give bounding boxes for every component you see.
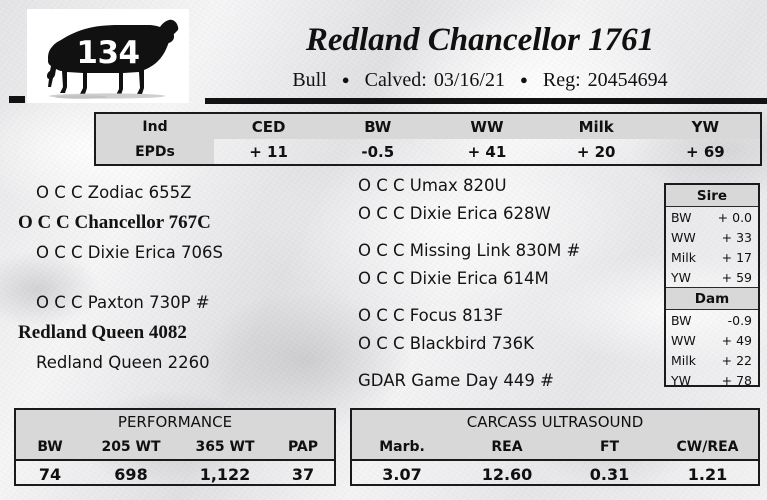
- performance-title: PERFORMANCE: [16, 410, 334, 434]
- dam-row-ww: WW + 49: [666, 330, 758, 350]
- performance-value-bw: 74: [16, 460, 84, 488]
- epd-value-row: EPDs + 11 -0.5 + 41 + 20 + 69: [96, 139, 760, 164]
- bullet-separator-2: ●: [511, 72, 537, 87]
- header-divider-rule: [205, 98, 767, 104]
- lot-number: 134: [27, 35, 189, 71]
- sire-row-ww: WW + 33: [666, 227, 758, 247]
- carcass-value-ft: 0.31: [562, 460, 657, 488]
- epd-col-ced: CED: [214, 114, 323, 139]
- epd-row-label-epds: EPDs: [96, 139, 214, 164]
- carcass-col-cwrea: CW/REA: [657, 434, 758, 460]
- sire-row-bw: BW + 0.0: [666, 207, 758, 228]
- epd-value-bw: -0.5: [323, 139, 432, 164]
- sire-key-milk: Milk: [666, 247, 712, 267]
- dam-key-milk: Milk: [666, 350, 712, 370]
- dam-value-milk: + 22: [712, 350, 758, 370]
- pedigree-mid-item: O C C Blackbird 736K: [358, 330, 658, 358]
- carcass-value-cwrea: 1.21: [657, 460, 758, 488]
- carcass-col-ft: FT: [562, 434, 657, 460]
- pedigree-mid-item: O C C Missing Link 830M #: [358, 237, 658, 265]
- performance-value-205wt: 698: [84, 460, 178, 488]
- pedigree-left-item: O C C Dixie Erica 706S: [18, 238, 338, 268]
- pedigree-mid-spacer: [358, 293, 658, 302]
- pedigree-left-item: O C C Paxton 730P #: [18, 288, 338, 318]
- epd-value-ced: + 11: [214, 139, 323, 164]
- pedigree-left-item: Redland Queen 2260: [18, 348, 338, 378]
- dam-key-bw: BW: [666, 310, 712, 331]
- sire-row-milk: Milk + 17: [666, 247, 758, 267]
- epd-col-yw: YW: [651, 114, 760, 139]
- epd-value-milk: + 20: [542, 139, 651, 164]
- pedigree-mid-spacer: [358, 228, 658, 237]
- calved-label: Calved:: [364, 69, 428, 91]
- reg-number: 20454694: [587, 69, 669, 91]
- performance-title-row: PERFORMANCE: [16, 410, 334, 434]
- epd-value-ww: + 41: [432, 139, 541, 164]
- pedigree-mid-item: GDAR Game Day 449 #: [358, 367, 658, 395]
- pedigree-left-sire: O C C Chancellor 767C: [18, 208, 338, 238]
- sire-value-bw: + 0.0: [712, 207, 758, 228]
- carcass-ultrasound-table: CARCASS ULTRASOUND Marb. REA FT CW/REA 3…: [350, 408, 760, 486]
- dam-value-yw: + 78: [712, 370, 758, 390]
- performance-value-pap: 37: [272, 460, 334, 488]
- sire-key-yw: YW: [666, 267, 712, 288]
- dam-title: Dam: [666, 288, 758, 310]
- animal-name-title: Redland Chancellor 1761: [200, 22, 760, 59]
- carcass-value-rea: 12.60: [452, 460, 562, 488]
- pedigree-mid-spacer: [358, 395, 658, 404]
- dam-row-yw: YW + 78: [666, 370, 758, 390]
- carcass-header-row: Marb. REA FT CW/REA: [352, 434, 758, 460]
- pedigree-left-dam: Redland Queen 4082: [18, 318, 338, 348]
- catalog-page: 134 Redland Chancellor 1761 Bull ● Calve…: [0, 0, 767, 500]
- animal-subtitle: Bull ● Calved: 03/16/21 ● Reg: 20454694: [200, 69, 760, 92]
- epd-col-milk: Milk: [542, 114, 651, 139]
- pedigree-mid-spacer: [358, 358, 658, 367]
- dam-value-bw: -0.9: [712, 310, 758, 331]
- pedigree-column-left: O C C Zodiac 655Z O C C Chancellor 767C …: [18, 178, 338, 378]
- carcass-value-row: 3.07 12.60 0.31 1.21: [352, 460, 758, 488]
- performance-col-pap: PAP: [272, 434, 334, 460]
- epd-col-ww: WW: [432, 114, 541, 139]
- pedigree-left-spacer: [18, 268, 338, 288]
- sire-key-bw: BW: [666, 207, 712, 228]
- performance-col-365wt: 365 WT: [178, 434, 272, 460]
- dam-key-ww: WW: [666, 330, 712, 350]
- bullet-separator-1: ●: [333, 72, 359, 87]
- animal-sex: Bull: [291, 69, 327, 91]
- pedigree-mid-item: O C C Dixie Erica 614M: [358, 265, 658, 293]
- epd-table: Ind CED BW WW Milk YW EPDs + 11 -0.5 + 4…: [94, 112, 762, 166]
- sire-row-yw: YW + 59: [666, 267, 758, 288]
- sire-value-yw: + 59: [712, 267, 758, 288]
- pedigree-mid-item: O C C Dixie Erica 628W: [358, 200, 658, 228]
- performance-col-bw: BW: [16, 434, 84, 460]
- performance-value-row: 74 698 1,122 37: [16, 460, 334, 488]
- epd-header-row: Ind CED BW WW Milk YW: [96, 114, 760, 139]
- dam-row-milk: Milk + 22: [666, 350, 758, 370]
- pedigree-mid-item: O C C Focus 813F: [358, 302, 658, 330]
- carcass-title-row: CARCASS ULTRASOUND: [352, 410, 758, 434]
- sire-key-ww: WW: [666, 227, 712, 247]
- pedigree-column-middle: O C C Umax 820U O C C Dixie Erica 628W O…: [358, 172, 658, 432]
- sire-value-ww: + 33: [712, 227, 758, 247]
- dam-key-yw: YW: [666, 370, 712, 390]
- sire-value-milk: + 17: [712, 247, 758, 267]
- performance-header-row: BW 205 WT 365 WT PAP: [16, 434, 334, 460]
- calved-date: 03/16/21: [433, 69, 506, 91]
- epd-row-label-ind: Ind: [96, 114, 214, 139]
- carcass-title: CARCASS ULTRASOUND: [352, 410, 758, 434]
- pedigree-left-item: O C C Zodiac 655Z: [18, 178, 338, 208]
- lot-logo-box: 134: [27, 9, 189, 103]
- performance-col-205wt: 205 WT: [84, 434, 178, 460]
- dam-value-ww: + 49: [712, 330, 758, 350]
- dam-section-title-row: Dam: [666, 288, 758, 310]
- sire-title: Sire: [666, 185, 758, 207]
- sire-dam-epd-box: Sire BW + 0.0 WW + 33 Milk + 17 YW + 59: [664, 183, 760, 387]
- epd-col-bw: BW: [323, 114, 432, 139]
- carcass-value-marb: 3.07: [352, 460, 452, 488]
- performance-table: PERFORMANCE BW 205 WT 365 WT PAP 74 698 …: [14, 408, 336, 486]
- carcass-col-marb: Marb.: [352, 434, 452, 460]
- performance-value-365wt: 1,122: [178, 460, 272, 488]
- header-accent-square: [9, 96, 25, 103]
- pedigree-mid-item: O C C Umax 820U: [358, 172, 658, 200]
- sire-section-title-row: Sire: [666, 185, 758, 207]
- reg-label: Reg:: [542, 69, 582, 91]
- dam-row-bw: BW -0.9: [666, 310, 758, 331]
- epd-value-yw: + 69: [651, 139, 760, 164]
- carcass-col-rea: REA: [452, 434, 562, 460]
